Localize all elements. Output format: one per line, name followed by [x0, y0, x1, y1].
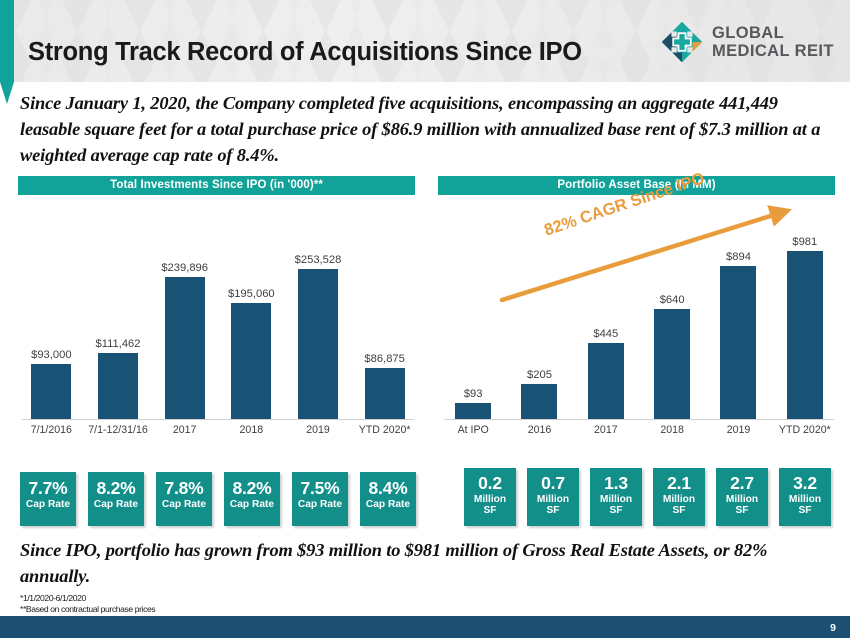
x-axis-tick-label: 2018: [639, 424, 705, 436]
bar: [98, 353, 138, 419]
square-feet-box: 2.1MillionSF: [653, 468, 705, 526]
footer-bar: [0, 616, 850, 638]
x-axis-tick-label: 2017: [151, 424, 218, 436]
x-axis-tick-label: At IPO: [440, 424, 506, 436]
bar-value-label: $981: [792, 236, 817, 248]
bar-value-label: $445: [593, 328, 618, 340]
accent-bar: [0, 0, 14, 82]
x-axis-tick-label: YTD 2020*: [351, 424, 418, 436]
bar-group: $981: [772, 211, 838, 419]
bar-value-label: $894: [726, 251, 751, 263]
cap-rate-value: 7.8%: [156, 478, 212, 499]
cap-rate-value: 7.5%: [292, 478, 348, 499]
square-feet-unit-line-1: Million: [527, 494, 579, 505]
square-feet-unit-line-1: Million: [464, 494, 516, 505]
square-feet-unit-line-2: SF: [779, 505, 831, 516]
bar-group: $445: [573, 211, 639, 419]
bar-value-label: $195,060: [228, 288, 275, 300]
bar-value-label: $111,462: [95, 338, 140, 350]
bar-group: $253,528: [285, 211, 352, 419]
summary-paragraph: Since IPO, portfolio has grown from $93 …: [20, 538, 835, 590]
bar-group: $86,875: [351, 211, 418, 419]
logo-line-2: MEDICAL REIT: [712, 42, 834, 60]
cap-rate-label: Cap Rate: [88, 499, 144, 510]
intro-paragraph: Since January 1, 2020, the Company compl…: [20, 90, 835, 168]
bar: [298, 269, 338, 419]
plot-area-left: $93,000$111,462$239,896$195,060$253,528$…: [18, 212, 418, 420]
x-axis-tick-label: 2016: [506, 424, 572, 436]
bar: [787, 251, 823, 419]
bar: [521, 384, 557, 419]
bar-group: $93,000: [18, 211, 85, 419]
bar: [588, 343, 624, 419]
bar: [31, 364, 71, 419]
square-feet-unit-line-2: SF: [716, 505, 768, 516]
bar-value-label: $93,000: [31, 349, 71, 361]
cap-rate-label: Cap Rate: [292, 499, 348, 510]
square-feet-value: 2.1: [653, 473, 705, 494]
bar-group: $195,060: [218, 211, 285, 419]
square-feet-unit-line-2: SF: [590, 505, 642, 516]
cap-rate-box: 8.4%Cap Rate: [360, 472, 416, 526]
square-feet-unit-line-1: Million: [779, 494, 831, 505]
square-feet-value: 3.2: [779, 473, 831, 494]
bar-group: $111,462: [85, 211, 152, 419]
square-feet-box: 0.7MillionSF: [527, 468, 579, 526]
chart-title-total-investments: Total Investments Since IPO (in '000)**: [18, 176, 415, 195]
page-number: 9: [830, 622, 836, 634]
bar-group: $205: [506, 211, 572, 419]
footnote-one: *1/1/2020-6/1/2020: [20, 593, 86, 603]
x-axis-tick-label: 7/1-12/31/16: [85, 424, 152, 436]
square-feet-value: 0.7: [527, 473, 579, 494]
cap-rate-box: 8.2%Cap Rate: [88, 472, 144, 526]
x-axis-tick-label: 2019: [705, 424, 771, 436]
square-feet-value: 1.3: [590, 473, 642, 494]
slide: Strong Track Record of Acquisitions Sinc…: [0, 0, 850, 638]
bar: [720, 266, 756, 419]
bar: [455, 403, 491, 419]
bar-group: $640: [639, 211, 705, 419]
bar-group: $894: [705, 211, 771, 419]
slide-header: Strong Track Record of Acquisitions Sinc…: [0, 0, 850, 82]
bar-value-label: $253,528: [295, 254, 342, 266]
logo-wordmark: GLOBAL MEDICAL REIT: [712, 24, 834, 61]
x-axis-line-left: [22, 419, 414, 420]
company-logo: GLOBAL MEDICAL REIT: [660, 18, 836, 66]
x-axis-line-right: [444, 419, 834, 420]
square-feet-unit-line-1: Million: [653, 494, 705, 505]
square-feet-box: 1.3MillionSF: [590, 468, 642, 526]
square-feet-unit-line-2: SF: [464, 505, 516, 516]
x-axis-tick-label: 7/1/2016: [18, 424, 85, 436]
cap-rate-label: Cap Rate: [224, 499, 280, 510]
square-feet-value: 2.7: [716, 473, 768, 494]
bar: [365, 368, 405, 420]
square-feet-box: 3.2MillionSF: [779, 468, 831, 526]
cap-rate-box: 8.2%Cap Rate: [224, 472, 280, 526]
square-feet-unit-line-2: SF: [653, 505, 705, 516]
cap-rate-value: 8.4%: [360, 478, 416, 499]
bar-value-label: $640: [660, 294, 685, 306]
bar: [231, 303, 271, 419]
accent-arrow-icon: [0, 82, 14, 104]
medical-cross-logo-icon: [660, 20, 704, 64]
cap-rate-box: 7.7%Cap Rate: [20, 472, 76, 526]
bar-value-label: $239,896: [161, 262, 208, 274]
square-feet-box: 0.2MillionSF: [464, 468, 516, 526]
bar: [165, 277, 205, 419]
x-axis-tick-label: YTD 2020*: [772, 424, 838, 436]
cap-rate-box: 7.8%Cap Rate: [156, 472, 212, 526]
chart-total-investments: $93,000$111,462$239,896$195,060$253,528$…: [18, 212, 418, 442]
bar-value-label: $205: [527, 369, 552, 381]
bar-value-label: $86,875: [364, 353, 404, 365]
cap-rate-value: 8.2%: [224, 478, 280, 499]
square-feet-unit-line-1: Million: [716, 494, 768, 505]
x-axis-tick-label: 2018: [218, 424, 285, 436]
cap-rate-label: Cap Rate: [20, 499, 76, 510]
logo-line-1: GLOBAL: [712, 24, 834, 42]
bar-value-label: $93: [464, 388, 483, 400]
cap-rate-box: 7.5%Cap Rate: [292, 472, 348, 526]
x-axis-tick-label: 2019: [285, 424, 352, 436]
square-feet-value: 0.2: [464, 473, 516, 494]
footnote-two: **Based on contractual purchase prices: [20, 604, 155, 614]
bar-group: $93: [440, 211, 506, 419]
cap-rate-label: Cap Rate: [360, 499, 416, 510]
cap-rate-value: 7.7%: [20, 478, 76, 499]
bar: [654, 309, 690, 419]
x-axis-tick-label: 2017: [573, 424, 639, 436]
bar-group: $239,896: [151, 211, 218, 419]
chart-portfolio-asset-base: $93$205$445$640$894$981 At IPO2016201720…: [440, 212, 838, 442]
square-feet-unit-line-2: SF: [527, 505, 579, 516]
plot-area-right: $93$205$445$640$894$981: [440, 212, 838, 420]
cap-rate-label: Cap Rate: [156, 499, 212, 510]
cap-rate-value: 8.2%: [88, 478, 144, 499]
page-title: Strong Track Record of Acquisitions Sinc…: [28, 38, 582, 67]
square-feet-unit-line-1: Million: [590, 494, 642, 505]
square-feet-box: 2.7MillionSF: [716, 468, 768, 526]
